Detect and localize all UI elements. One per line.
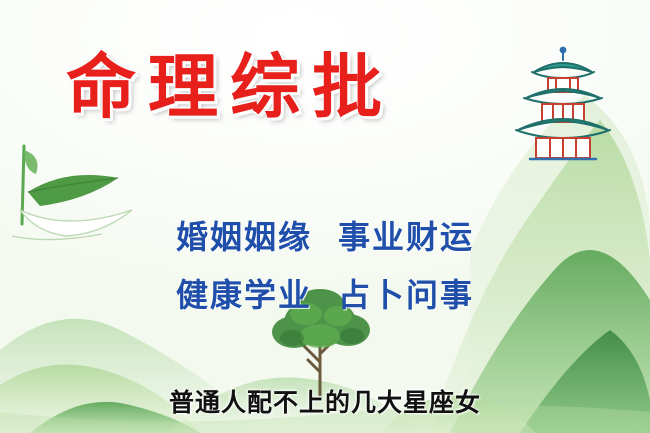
subline-1-right: 事业财运 — [338, 218, 474, 256]
subline-2-right: 占卜问事 — [338, 276, 474, 314]
page-title: 命理综批 — [0, 52, 460, 122]
caption-subtitle: 普通人配不上的几大星座女 — [0, 383, 650, 419]
subline-1-left: 婚姻姻缘 — [176, 218, 312, 256]
subline-2: 健康学业占卜问事 — [0, 270, 650, 316]
subline-1: 婚姻姻缘事业财运 — [0, 212, 650, 258]
subline-2-left: 健康学业 — [176, 276, 312, 314]
poster-image: 命理综批 婚姻姻缘事业财运 健康学业占卜问事 普通人配不上的几大星座女 — [0, 0, 650, 433]
pagoda-icon — [504, 46, 622, 166]
